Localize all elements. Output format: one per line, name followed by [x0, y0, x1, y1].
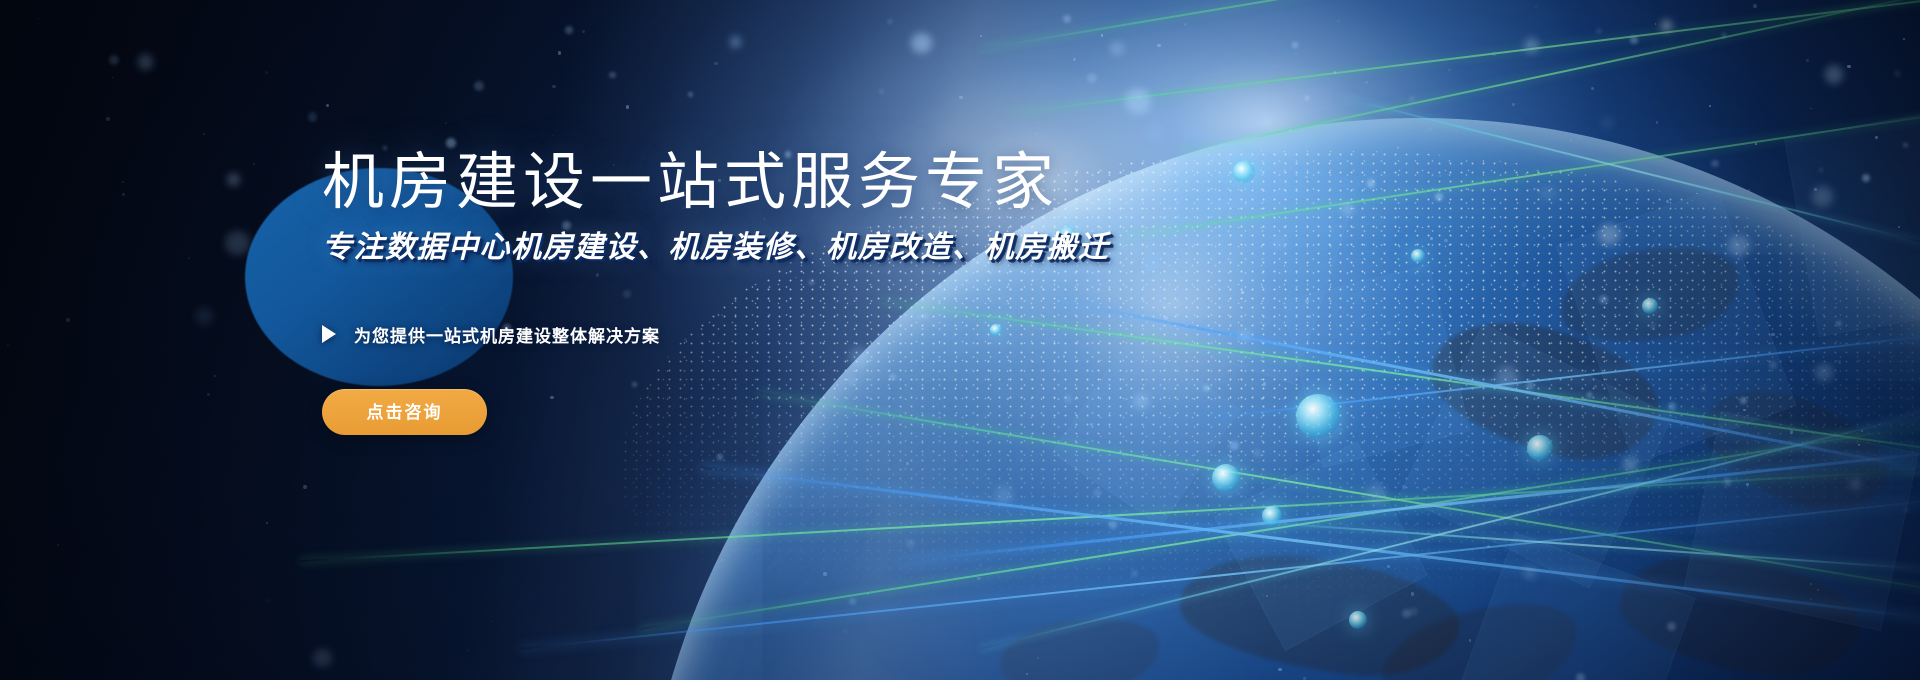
bokeh-particle	[1541, 186, 1555, 200]
bokeh-particle	[1305, 96, 1309, 100]
bokeh-particle	[1026, 673, 1028, 675]
bokeh-particle	[1093, 489, 1101, 497]
bokeh-particle	[1587, 392, 1593, 398]
bokeh-particle	[1292, 42, 1297, 47]
bokeh-particle	[1806, 59, 1809, 62]
bokeh-particle	[266, 522, 269, 525]
bokeh-particle	[1494, 131, 1496, 133]
bokeh-particle	[214, 375, 216, 377]
bokeh-particle	[445, 122, 448, 125]
bokeh-particle	[122, 193, 125, 196]
bokeh-particle	[823, 572, 827, 576]
bokeh-particle	[195, 307, 213, 325]
bokeh-particle	[57, 544, 59, 546]
bokeh-particle	[1409, 96, 1415, 102]
bokeh-particle	[867, 593, 869, 595]
bokeh-particle	[1598, 224, 1620, 246]
bokeh-particle	[7, 343, 9, 345]
bokeh-particle	[1810, 583, 1812, 585]
bokeh-particle	[1266, 595, 1268, 597]
bokeh-particle	[1630, 36, 1638, 44]
bokeh-particle	[888, 19, 892, 23]
bokeh-particle	[552, 85, 556, 89]
bokeh-particle	[492, 621, 493, 622]
bokeh-particle	[188, 257, 191, 260]
bokeh-particle	[265, 599, 270, 604]
bokeh-particle	[1656, 121, 1658, 123]
bokeh-particle	[1722, 33, 1727, 38]
bokeh-particle	[609, 72, 615, 78]
play-triangle-icon	[322, 325, 336, 343]
bokeh-particle	[1616, 328, 1618, 330]
network-node	[1527, 435, 1553, 461]
bokeh-particle	[626, 105, 629, 108]
bokeh-particle	[203, 133, 205, 135]
bokeh-particle	[1661, 20, 1672, 31]
bokeh-particle	[1898, 226, 1900, 228]
bokeh-particle	[1748, 189, 1750, 191]
bokeh-particle	[980, 35, 982, 37]
bokeh-particle	[1063, 15, 1071, 23]
bokeh-particle	[1655, 23, 1657, 25]
bokeh-particle	[688, 92, 693, 97]
bokeh-particle	[106, 117, 110, 121]
bokeh-particle	[1740, 397, 1747, 404]
bokeh-particle	[1743, 409, 1746, 412]
bokeh-particle	[1819, 168, 1823, 172]
bokeh-particle	[225, 231, 250, 256]
bokeh-particle	[1894, 70, 1901, 77]
bokeh-particle	[959, 96, 963, 100]
bokeh-particle	[1666, 200, 1669, 203]
bokeh-particle	[1709, 105, 1711, 107]
bokeh-particle	[1458, 463, 1460, 465]
bokeh-particle	[1601, 117, 1614, 130]
bokeh-particle	[1109, 521, 1117, 529]
bokeh-particle	[1101, 34, 1104, 37]
bokeh-particle	[1711, 160, 1719, 168]
bokeh-particle	[1169, 552, 1172, 555]
bokeh-particle	[714, 62, 718, 66]
tagline-text: 为您提供一站式机房建设整体解决方案	[354, 322, 660, 347]
bokeh-particle	[109, 55, 119, 65]
bokeh-particle	[1847, 65, 1850, 68]
bokeh-particle	[265, 71, 268, 74]
bokeh-particle	[1238, 117, 1240, 119]
network-node	[1262, 506, 1282, 526]
bokeh-particle	[466, 649, 469, 652]
bokeh-particle	[207, 393, 210, 396]
bokeh-particle	[1596, 28, 1602, 34]
bokeh-particle	[308, 112, 318, 122]
bokeh-particle	[979, 563, 983, 567]
bokeh-particle	[1334, 71, 1336, 73]
bokeh-particle	[227, 173, 240, 186]
bokeh-particle	[1753, 4, 1757, 8]
bokeh-particle	[1837, 321, 1842, 326]
bokeh-particle	[1623, 457, 1637, 471]
bokeh-particle	[1526, 381, 1535, 390]
bokeh-particle	[773, 516, 775, 518]
bokeh-particle	[1435, 193, 1443, 201]
bokeh-particle	[879, 89, 884, 94]
bokeh-particle	[474, 81, 484, 91]
bokeh-particle	[1594, 385, 1597, 388]
bokeh-particle	[1337, 19, 1341, 23]
bokeh-particle	[1402, 485, 1406, 489]
bokeh-particle	[446, 138, 456, 148]
bokeh-particle	[1492, 52, 1496, 56]
bokeh-particle	[1469, 244, 1471, 246]
consult-cta-button[interactable]: 点击咨询	[322, 389, 487, 435]
bokeh-particle	[552, 135, 554, 137]
bokeh-particle	[1524, 38, 1539, 53]
bokeh-particle	[1444, 239, 1447, 242]
bokeh-particle	[1087, 73, 1097, 83]
bokeh-particle	[911, 33, 931, 53]
bokeh-particle	[1810, 108, 1812, 110]
hero-copy: 机房建设一站式服务专家 专注数据中心机房建设、机房装修、机房改造、机房搬迁 为您…	[322, 150, 1422, 435]
bokeh-particle	[1875, 136, 1878, 139]
bokeh-particle	[1736, 332, 1738, 334]
bokeh-particle	[1253, 499, 1256, 502]
bokeh-particle	[1137, 96, 1141, 100]
tagline-row: 为您提供一站式机房建设整体解决方案	[322, 322, 1422, 347]
network-node	[1642, 298, 1658, 314]
bokeh-particle	[1591, 87, 1594, 90]
bokeh-particle	[1110, 42, 1124, 56]
bokeh-particle	[1651, 324, 1656, 329]
bokeh-particle	[1429, 127, 1433, 131]
bokeh-particle	[1145, 124, 1164, 143]
bokeh-particle	[1771, 333, 1775, 337]
bokeh-particle	[565, 26, 573, 34]
bokeh-particle	[1512, 103, 1515, 106]
bokeh-particle	[66, 318, 70, 322]
bokeh-particle	[1295, 53, 1297, 55]
bokeh-particle	[1647, 354, 1651, 358]
bokeh-particle	[112, 77, 113, 78]
bokeh-particle	[1903, 507, 1909, 513]
bokeh-particle	[1903, 38, 1905, 40]
bokeh-particle	[1448, 69, 1450, 71]
bokeh-particle	[1524, 567, 1536, 579]
bokeh-particle	[582, 30, 585, 33]
network-node	[1349, 611, 1367, 629]
bokeh-particle	[1728, 235, 1749, 256]
hero-banner: 机房建设一站式服务专家 专注数据中心机房建设、机房装修、机房改造、机房搬迁 为您…	[0, 0, 1920, 680]
bokeh-particle	[1755, 143, 1757, 145]
bokeh-particle	[1576, 673, 1586, 680]
bokeh-particle	[313, 649, 331, 667]
bokeh-particle	[1073, 58, 1077, 62]
bokeh-particle	[730, 36, 742, 48]
bokeh-particle	[1366, 484, 1387, 505]
bokeh-particle	[1815, 364, 1833, 382]
bokeh-particle	[849, 598, 856, 605]
bokeh-particle	[558, 51, 561, 54]
bokeh-particle	[1365, 81, 1368, 84]
bokeh-particle	[1696, 193, 1697, 194]
bokeh-particle	[1387, 565, 1390, 568]
bokeh-particle	[1535, 6, 1537, 8]
bokeh-particle	[303, 485, 307, 489]
bokeh-particle	[1184, 23, 1187, 26]
bokeh-particle	[1207, 459, 1211, 463]
bokeh-particle	[122, 181, 124, 183]
bokeh-particle	[1903, 143, 1908, 148]
bokeh-particle	[1157, 44, 1161, 48]
bokeh-particle	[38, 18, 40, 20]
bokeh-particle	[1525, 173, 1527, 175]
bokeh-particle	[253, 163, 255, 165]
bokeh-particle	[1125, 88, 1151, 114]
page-subtitle: 专注数据中心机房建设、机房装修、机房改造、机房搬迁	[322, 230, 1422, 266]
bokeh-particle	[1423, 488, 1427, 492]
bokeh-particle	[1035, 132, 1038, 135]
bokeh-particle	[1825, 65, 1844, 84]
bokeh-particle	[1850, 479, 1861, 490]
bokeh-particle	[138, 54, 154, 70]
network-node	[1212, 464, 1240, 492]
bokeh-particle	[326, 104, 330, 108]
page-title: 机房建设一站式服务专家	[322, 150, 1422, 216]
